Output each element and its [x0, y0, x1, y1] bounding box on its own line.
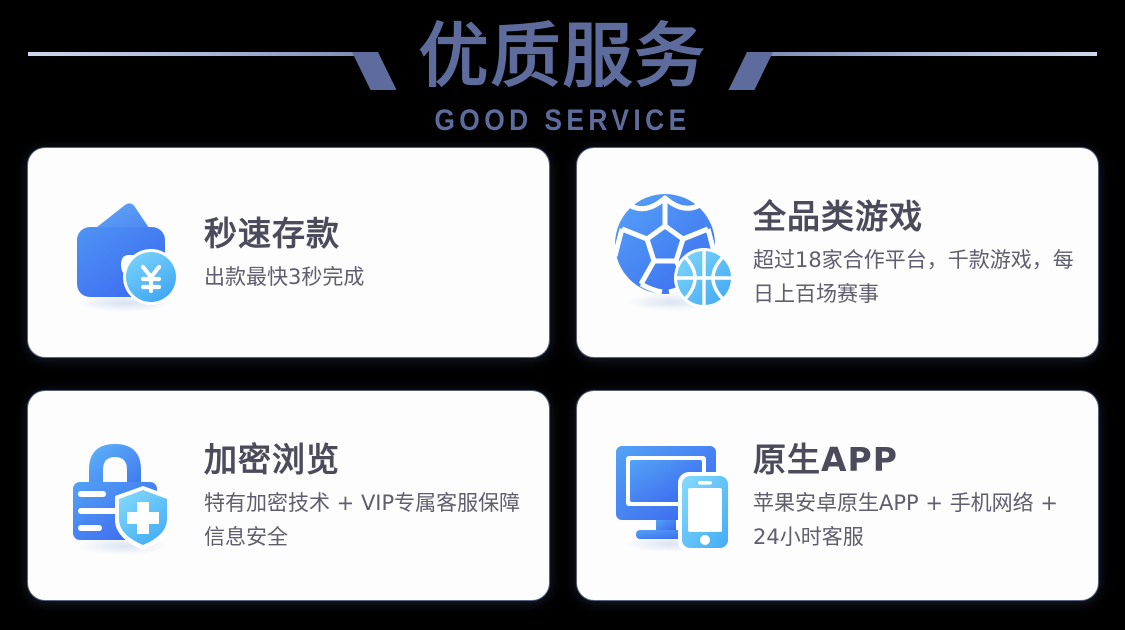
card-text-block: 加密浏览 特有加密技术 + VIP专属客服保障信息安全	[200, 438, 524, 554]
card-text-block: 原生APP 苹果安卓原生APP + 手机网络 + 24小时客服	[749, 438, 1083, 554]
card-text-block: 秒速存款 出款最快3秒完成	[200, 212, 364, 294]
card-description: 特有加密技术 + VIP专属客服保障信息安全	[204, 486, 524, 554]
monitor-phone-icon	[599, 421, 749, 571]
card-title: 原生APP	[753, 438, 1083, 482]
page-header: 优质服务 GOOD SERVICE	[0, 0, 1125, 140]
lock-shield-icon	[50, 421, 200, 571]
wallet-yen-icon	[50, 178, 200, 328]
card-text-block: 全品类游戏 超过18家合作平台，千款游戏，每日上百场赛事	[749, 195, 1083, 311]
page-title: 优质服务	[0, 0, 1125, 104]
service-card-grid: 秒速存款 出款最快3秒完成	[28, 148, 1098, 600]
service-card-deposit[interactable]: 秒速存款 出款最快3秒完成	[28, 148, 549, 357]
card-title: 加密浏览	[204, 438, 524, 482]
card-title: 秒速存款	[204, 212, 364, 256]
card-description: 超过18家合作平台，千款游戏，每日上百场赛事	[753, 243, 1083, 311]
service-card-app[interactable]: 原生APP 苹果安卓原生APP + 手机网络 + 24小时客服	[577, 391, 1098, 600]
card-title: 全品类游戏	[753, 195, 1083, 239]
card-description: 苹果安卓原生APP + 手机网络 + 24小时客服	[753, 486, 1083, 554]
card-description: 出款最快3秒完成	[204, 260, 364, 294]
service-card-games[interactable]: 全品类游戏 超过18家合作平台，千款游戏，每日上百场赛事	[577, 148, 1098, 357]
title-block: 优质服务 GOOD SERVICE	[0, 0, 1125, 138]
service-card-encryption[interactable]: 加密浏览 特有加密技术 + VIP专属客服保障信息安全	[28, 391, 549, 600]
page-root: 优质服务 GOOD SERVICE	[0, 0, 1125, 630]
soccer-basketball-icon	[599, 178, 749, 328]
page-subtitle: GOOD SERVICE	[68, 104, 1058, 138]
